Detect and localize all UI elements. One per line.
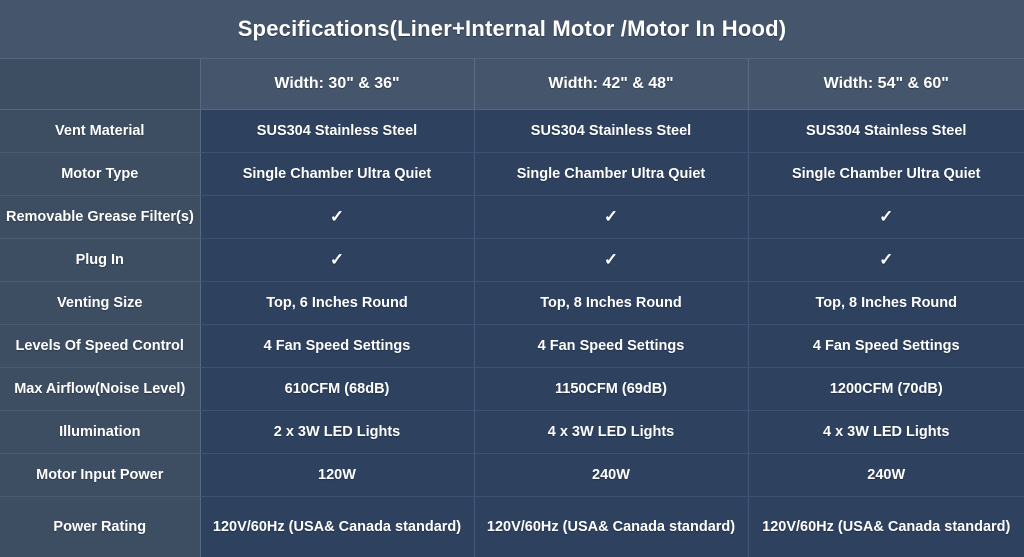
table-row: Removable Grease Filter(s) ✓ ✓ ✓ xyxy=(0,196,1024,239)
specifications-sheet: Specifications(Liner+Internal Motor /Mot… xyxy=(0,0,1024,540)
cell-venting-size-col2: Top, 8 Inches Round xyxy=(474,282,748,325)
cell-plug-in-col2: ✓ xyxy=(474,239,748,282)
cell-illumination-col3: 4 x 3W LED Lights xyxy=(748,411,1024,454)
cell-vent-material-col3: SUS304 Stainless Steel xyxy=(748,110,1024,153)
row-label-vent-material: Vent Material xyxy=(0,110,200,153)
cell-power-rating-col3: 120V/60Hz (USA& Canada standard) xyxy=(748,497,1024,557)
cell-levels-of-speed-control-col2: 4 Fan Speed Settings xyxy=(474,325,748,368)
title-bar: Specifications(Liner+Internal Motor /Mot… xyxy=(0,0,1024,59)
cell-illumination-col1: 2 x 3W LED Lights xyxy=(200,411,474,454)
table-corner-cell xyxy=(0,59,200,110)
table-row: Motor Input Power 120W 240W 240W xyxy=(0,454,1024,497)
cell-motor-type-col1: Single Chamber Ultra Quiet xyxy=(200,153,474,196)
cell-removable-grease-filters-col1: ✓ xyxy=(200,196,474,239)
cell-max-airflow-col3: 1200CFM (70dB) xyxy=(748,368,1024,411)
cell-venting-size-col3: Top, 8 Inches Round xyxy=(748,282,1024,325)
page-title: Specifications(Liner+Internal Motor /Mot… xyxy=(238,16,787,42)
column-header-3: Width: 54" & 60" xyxy=(748,59,1024,110)
cell-motor-type-col3: Single Chamber Ultra Quiet xyxy=(748,153,1024,196)
table-header: Width: 30" & 36" Width: 42" & 48" Width:… xyxy=(0,59,1024,110)
table-row: Max Airflow(Noise Level) 610CFM (68dB) 1… xyxy=(0,368,1024,411)
row-label-venting-size: Venting Size xyxy=(0,282,200,325)
row-label-max-airflow: Max Airflow(Noise Level) xyxy=(0,368,200,411)
cell-max-airflow-col1: 610CFM (68dB) xyxy=(200,368,474,411)
column-header-1: Width: 30" & 36" xyxy=(200,59,474,110)
cell-motor-input-power-col1: 120W xyxy=(200,454,474,497)
specifications-table: Width: 30" & 36" Width: 42" & 48" Width:… xyxy=(0,59,1024,557)
cell-motor-input-power-col2: 240W xyxy=(474,454,748,497)
row-label-power-rating: Power Rating xyxy=(0,497,200,557)
check-icon: ✓ xyxy=(604,251,618,268)
table-row: Power Rating 120V/60Hz (USA& Canada stan… xyxy=(0,497,1024,557)
cell-vent-material-col1: SUS304 Stainless Steel xyxy=(200,110,474,153)
check-icon: ✓ xyxy=(879,251,893,268)
table-row: Motor Type Single Chamber Ultra Quiet Si… xyxy=(0,153,1024,196)
cell-removable-grease-filters-col3: ✓ xyxy=(748,196,1024,239)
check-icon: ✓ xyxy=(330,251,344,268)
check-icon: ✓ xyxy=(879,208,893,225)
cell-venting-size-col1: Top, 6 Inches Round xyxy=(200,282,474,325)
table-row: Vent Material SUS304 Stainless Steel SUS… xyxy=(0,110,1024,153)
cell-motor-type-col2: Single Chamber Ultra Quiet xyxy=(474,153,748,196)
row-label-removable-grease-filters: Removable Grease Filter(s) xyxy=(0,196,200,239)
row-label-motor-input-power: Motor Input Power xyxy=(0,454,200,497)
row-label-plug-in: Plug In xyxy=(0,239,200,282)
cell-levels-of-speed-control-col1: 4 Fan Speed Settings xyxy=(200,325,474,368)
row-label-motor-type: Motor Type xyxy=(0,153,200,196)
cell-vent-material-col2: SUS304 Stainless Steel xyxy=(474,110,748,153)
table-row: Levels Of Speed Control 4 Fan Speed Sett… xyxy=(0,325,1024,368)
cell-power-rating-col1: 120V/60Hz (USA& Canada standard) xyxy=(200,497,474,557)
cell-motor-input-power-col3: 240W xyxy=(748,454,1024,497)
cell-max-airflow-col2: 1150CFM (69dB) xyxy=(474,368,748,411)
column-header-2: Width: 42" & 48" xyxy=(474,59,748,110)
row-label-illumination: Illumination xyxy=(0,411,200,454)
cell-plug-in-col3: ✓ xyxy=(748,239,1024,282)
table-row: Illumination 2 x 3W LED Lights 4 x 3W LE… xyxy=(0,411,1024,454)
table-row: Venting Size Top, 6 Inches Round Top, 8 … xyxy=(0,282,1024,325)
cell-plug-in-col1: ✓ xyxy=(200,239,474,282)
row-label-levels-of-speed-control: Levels Of Speed Control xyxy=(0,325,200,368)
cell-levels-of-speed-control-col3: 4 Fan Speed Settings xyxy=(748,325,1024,368)
check-icon: ✓ xyxy=(604,208,618,225)
header-row: Width: 30" & 36" Width: 42" & 48" Width:… xyxy=(0,59,1024,110)
table-body: Vent Material SUS304 Stainless Steel SUS… xyxy=(0,110,1024,557)
cell-power-rating-col2: 120V/60Hz (USA& Canada standard) xyxy=(474,497,748,557)
cell-removable-grease-filters-col2: ✓ xyxy=(474,196,748,239)
table-row: Plug In ✓ ✓ ✓ xyxy=(0,239,1024,282)
check-icon: ✓ xyxy=(330,208,344,225)
cell-illumination-col2: 4 x 3W LED Lights xyxy=(474,411,748,454)
